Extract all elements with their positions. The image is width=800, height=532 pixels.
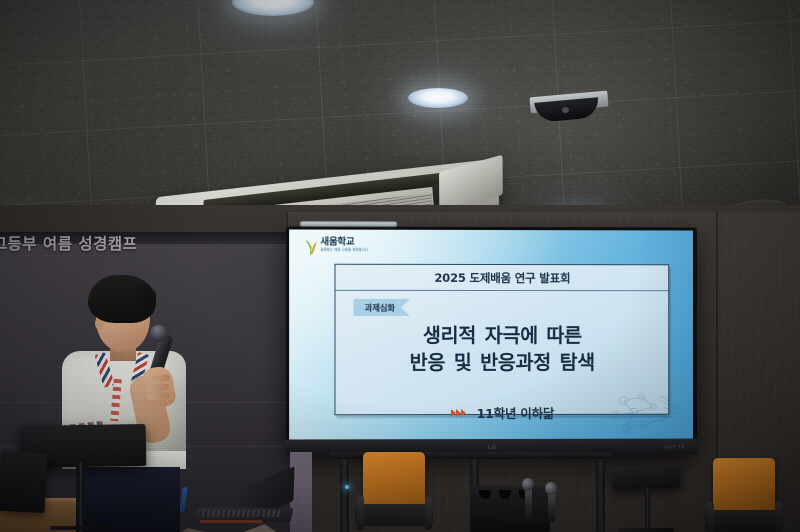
student-presenter [52, 275, 202, 532]
rack-notch [479, 490, 491, 499]
presentation-slide: 새움학교 꿈을찾는 배움 다음을 응원합니다 2025 도제배움 연구 발표회 … [289, 229, 693, 439]
decorative-science-network-icon [602, 391, 687, 437]
music-stand-left-pole [78, 462, 84, 532]
microphone-head-icon-1 [522, 478, 534, 491]
music-stand-left-base [50, 526, 114, 530]
chair-left [355, 452, 433, 532]
logo-school-name: 새움학교 [320, 238, 368, 248]
triple-chevron-right-icon [451, 409, 466, 417]
chair-backrest [713, 458, 775, 512]
slide-title-line-1: 생리적 자극에 따른 [335, 323, 668, 350]
wall-mounted-tv: 새움학교 꿈을찾는 배움 다음을 응원합니다 2025 도제배움 연구 발표회 … [286, 226, 697, 455]
slide-title-block: 생리적 자극에 따른 반응 및 반응과정 탐색 [335, 323, 668, 377]
chair-arm-right [425, 496, 432, 530]
tv-brand-logo: LG [488, 445, 497, 451]
presenter-pants [76, 467, 180, 532]
chair-right [705, 458, 783, 532]
chair-arm-left [707, 502, 714, 532]
microphone-rack [470, 486, 550, 532]
chair-seat [355, 504, 433, 526]
music-stand-right-base [618, 528, 674, 532]
aux-stand-plate [0, 451, 48, 513]
chair-backrest [363, 452, 425, 506]
microphone-on-rack-1 [525, 486, 532, 520]
tv-bezel: 새움학교 꿈을찾는 배움 다음을 응원합니다 2025 도제배움 연구 발표회 … [289, 229, 693, 439]
photo-scene: 움고등부 여름 성경캠프 따라 가는 새움학교 꿈을찾는 배움 다음을 응원합니… [0, 0, 800, 532]
presenter-finger [147, 393, 169, 401]
slide-header-title: 2025 도제배움 연구 발표회 [434, 269, 570, 285]
banner-title-text: 움고등부 여름 성경캠프 [0, 232, 178, 254]
logo-tagline: 꿈을찾는 배움 다음을 응원합니다 [320, 249, 368, 252]
tv-stand-leg-left [340, 455, 349, 532]
laptop-accent-strip [200, 520, 263, 523]
chair-arm-left [357, 496, 364, 530]
camera-lens-icon [562, 107, 569, 113]
slide-header-bar: 2025 도제배움 연구 발표회 [335, 265, 668, 291]
status-badge: 과제심화 [354, 299, 410, 316]
chair-arm-right [775, 502, 782, 532]
rack-notch [499, 490, 511, 499]
recessed-light-2 [408, 88, 468, 108]
logo-text-block: 새움학교 꿈을찾는 배움 다음을 응원합니다 [320, 238, 368, 252]
school-logo: 새움학교 꿈을찾는 배움 다음을 응원합니다 [303, 236, 368, 255]
tv-top-light-reflection [300, 221, 397, 226]
device-led-indicator [345, 485, 349, 489]
leaf-sprout-icon [303, 236, 318, 255]
slide-title-line-2: 반응 및 반응과정 탐색 [335, 350, 668, 377]
chair-seat [705, 510, 783, 532]
laptop-keyboard [201, 510, 280, 517]
tv-stand-leg-right [596, 455, 605, 532]
microphone-head-icon-2 [545, 482, 557, 495]
slide-presenter-name: 11학년 이하닮 [477, 403, 555, 422]
badge-label: 과제심화 [365, 301, 395, 313]
music-stand-right-pole [645, 487, 650, 532]
tv-model-label: UHD TV [664, 446, 685, 451]
